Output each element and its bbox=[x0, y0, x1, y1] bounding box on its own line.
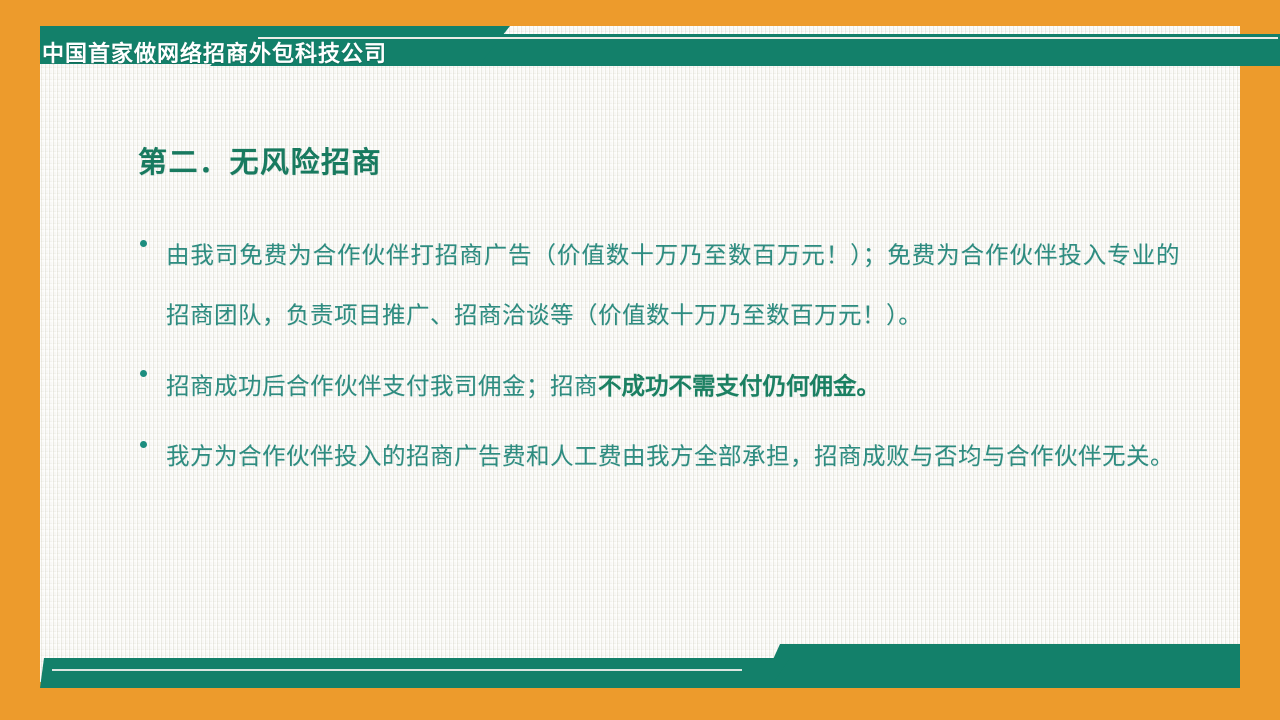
bullet-dot-icon bbox=[140, 226, 166, 247]
list-item: 招商成功后合作伙伴支付我司佣金；招商不成功不需支付仍何佣金。 bbox=[140, 356, 1180, 417]
footer-banner-shape bbox=[0, 620, 1280, 720]
bullet-dot-icon bbox=[140, 427, 166, 448]
plain-text: 由我司免费为合作伙伴打招商广告（价值数十万乃至数百万元！）；免费为合作伙伴投入专… bbox=[166, 243, 1180, 329]
list-item: 由我司免费为合作伙伴打招商广告（价值数十万乃至数百万元！）；免费为合作伙伴投入专… bbox=[140, 226, 1180, 346]
bullet-text: 招商成功后合作伙伴支付我司佣金；招商不成功不需支付仍何佣金。 bbox=[166, 356, 1180, 417]
footer-left-bar bbox=[40, 658, 790, 688]
emphasis-text: 不成功不需支付仍何佣金。 bbox=[598, 373, 880, 399]
plain-text: 招商成功后合作伙伴支付我司佣金；招商 bbox=[166, 374, 598, 400]
bullet-text: 由我司免费为合作伙伴打招商广告（价值数十万乃至数百万元！）；免费为合作伙伴投入专… bbox=[166, 226, 1180, 346]
list-item: 我方为合作伙伴投入的招商广告费和人工费由我方全部承担，招商成败与否均与合作伙伴无… bbox=[140, 427, 1180, 487]
footer-right-block bbox=[760, 644, 1240, 688]
header-banner: 中国首家做网络招商外包科技公司 bbox=[40, 26, 1280, 78]
bullet-text: 我方为合作伙伴投入的招商广告费和人工费由我方全部承担，招商成败与否均与合作伙伴无… bbox=[166, 427, 1180, 487]
bullet-dot-icon bbox=[140, 356, 166, 377]
footer-banner: 按效果付费，前期不收任何费用 bbox=[0, 620, 1280, 720]
header-banner-title: 中国首家做网络招商外包科技公司 bbox=[40, 26, 560, 78]
section-heading: 第二．无风险招商 bbox=[138, 139, 382, 181]
plain-text: 我方为合作伙伴投入的招商广告费和人工费由我方全部承担，招商成败与否均与合作伙伴无… bbox=[166, 444, 1174, 470]
presentation-slide: 中国首家做网络招商外包科技公司 第二．无风险招商 由我司免费为合作伙伴打招商广告… bbox=[0, 0, 1280, 720]
bullet-list: 由我司免费为合作伙伴打招商广告（价值数十万乃至数百万元！）；免费为合作伙伴投入专… bbox=[140, 226, 1180, 497]
